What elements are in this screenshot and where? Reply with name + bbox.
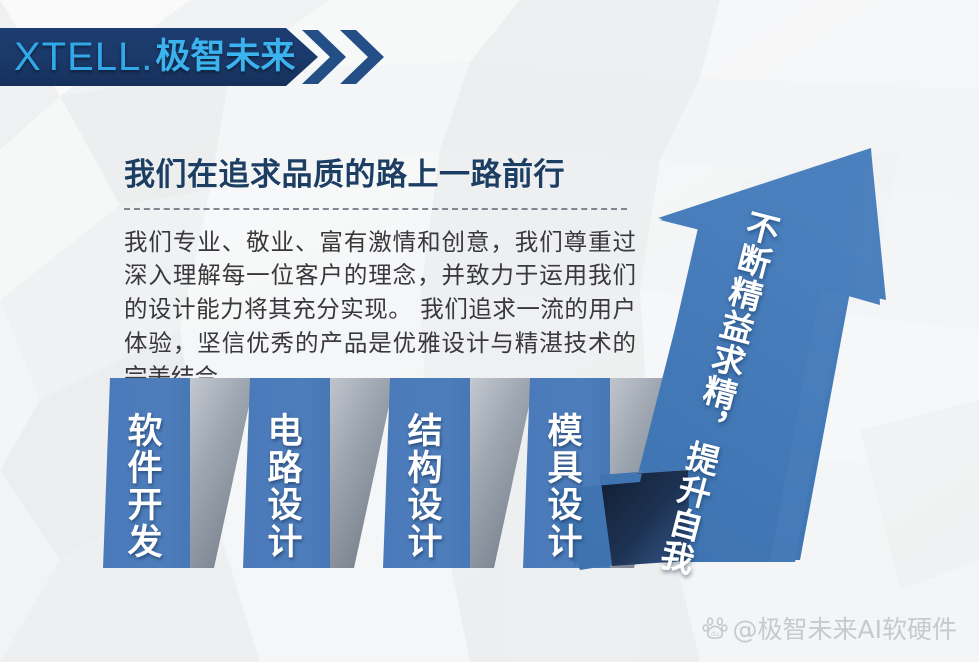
arrow-base-shadow	[600, 470, 700, 566]
ribbon-panel-2	[243, 378, 330, 568]
brand-logo-text: XTELL. 极智未来	[14, 28, 295, 86]
slide-canvas: XTELL. 极智未来 我们在追求品质的路上一路前行 我们专业、敬业、富有激情和…	[0, 0, 979, 662]
brand-logo-cjk: 极智未来	[155, 40, 295, 75]
brand-logo-latin: XTELL.	[14, 37, 153, 77]
brand-logo-bar: XTELL. 极智未来	[0, 28, 400, 86]
process-ribbon-graphic	[0, 130, 979, 590]
baidu-paw-icon: du	[702, 615, 728, 641]
watermark: du @极智未来AI软硬件	[702, 610, 957, 646]
ribbon-panel-1	[103, 378, 190, 568]
chevron-right-icon-2	[340, 30, 384, 84]
watermark-text: @极智未来AI软硬件	[733, 610, 957, 646]
svg-text:du: du	[710, 630, 718, 638]
ribbon-panel-3	[383, 378, 470, 568]
